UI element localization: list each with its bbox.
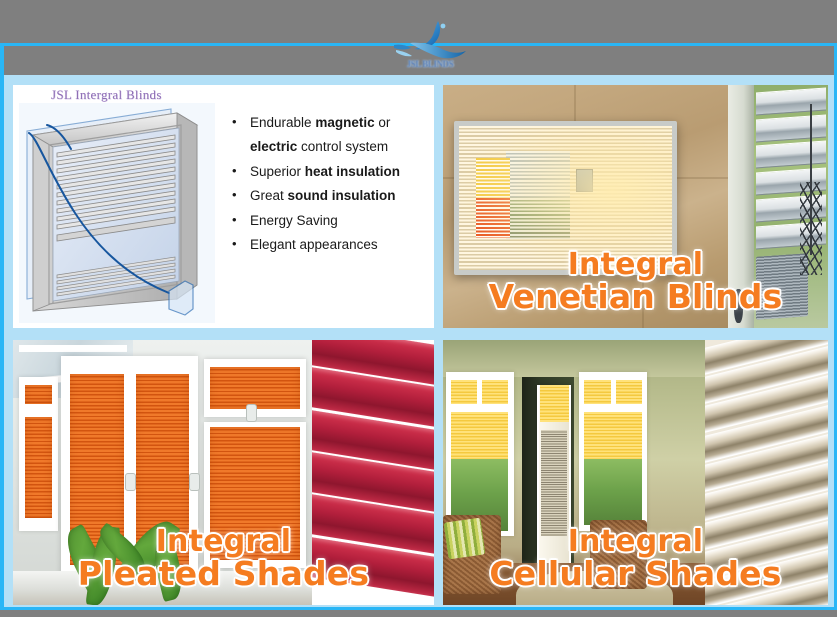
bullet-text: Energy Saving: [250, 211, 428, 230]
roof-bar: [19, 345, 127, 352]
cad-title: JSL Intergral Blinds: [51, 87, 162, 103]
list-item: • Great sound insulation: [232, 186, 428, 205]
caption-line-1: Integral: [443, 527, 828, 558]
bullet-marker: •: [232, 186, 250, 205]
cellular-shade: [540, 385, 569, 422]
caption-pleated: Integral Pleated Shades: [13, 527, 434, 591]
feature-bullet-list: • Endurable magnetic or electric control…: [218, 85, 434, 328]
panel-pleated-shades[interactable]: Integral Pleated Shades: [13, 340, 434, 605]
panel-cellular-shades[interactable]: Integral Cellular Shades: [443, 340, 828, 605]
garden-view: [584, 457, 642, 526]
cellular-shade: [616, 380, 642, 404]
caption-line-2: Cellular Shades: [443, 557, 828, 591]
cellular-shade: [584, 380, 610, 404]
panel-specifications: JSL Intergral Blinds: [13, 85, 434, 328]
closeup-slat: [756, 87, 826, 115]
list-item: electric control system: [232, 137, 428, 156]
bullet-marker: •: [232, 162, 250, 181]
cellular-shade: [584, 412, 642, 460]
bullet-text: electric control system: [250, 137, 428, 156]
door-louver: [541, 430, 567, 536]
pleated-blind: [25, 417, 52, 518]
bullet-marker: •: [232, 235, 250, 254]
list-item: • Energy Saving: [232, 211, 428, 230]
list-item: • Endurable magnetic or: [232, 113, 428, 132]
integral-blind-window-3d-drawing-icon: [19, 103, 215, 323]
bullet-marker: •: [232, 113, 250, 132]
bullet-text: Great sound insulation: [250, 186, 428, 205]
panel-grid: JSL Intergral Blinds: [13, 85, 828, 605]
bullet-text: Elegant appearances: [250, 235, 428, 254]
bullet-text: Endurable magnetic or: [250, 113, 428, 132]
door-handle: [189, 473, 199, 492]
list-item: • Superior heat insulation: [232, 162, 428, 181]
bullet-marker: •: [232, 211, 250, 230]
cad-canvas: [19, 103, 215, 323]
cellular-shade: [451, 380, 477, 404]
logo-wordmark: JSL BLINDS: [380, 59, 480, 69]
caption-line-1: Integral: [13, 527, 434, 558]
pleated-blind: [210, 367, 300, 409]
list-item: • Elegant appearances: [232, 235, 428, 254]
caption-line-1: Integral: [443, 250, 828, 281]
cad-drawing-block: JSL Intergral Blinds: [13, 85, 218, 328]
slide-frame: JSL BLINDS JSL Intergral Blinds: [0, 43, 837, 610]
caption-line-2: Venetian Blinds: [443, 280, 828, 314]
closeup-slat: [756, 114, 826, 142]
bullet-text: Superior heat insulation: [250, 162, 428, 181]
caption-cellular: Integral Cellular Shades: [443, 527, 828, 591]
caption-venetian: Integral Venetian Blinds: [443, 250, 828, 314]
cellular-shade: [482, 380, 508, 404]
cellular-shade: [451, 412, 509, 460]
door-handle: [125, 473, 135, 492]
panel-venetian-blinds[interactable]: Integral Venetian Blinds: [443, 85, 828, 328]
window-handle: [246, 404, 256, 423]
pleated-blind: [25, 385, 52, 404]
caption-line-2: Pleated Shades: [13, 557, 434, 591]
brand-logo: JSL BLINDS: [380, 19, 480, 81]
